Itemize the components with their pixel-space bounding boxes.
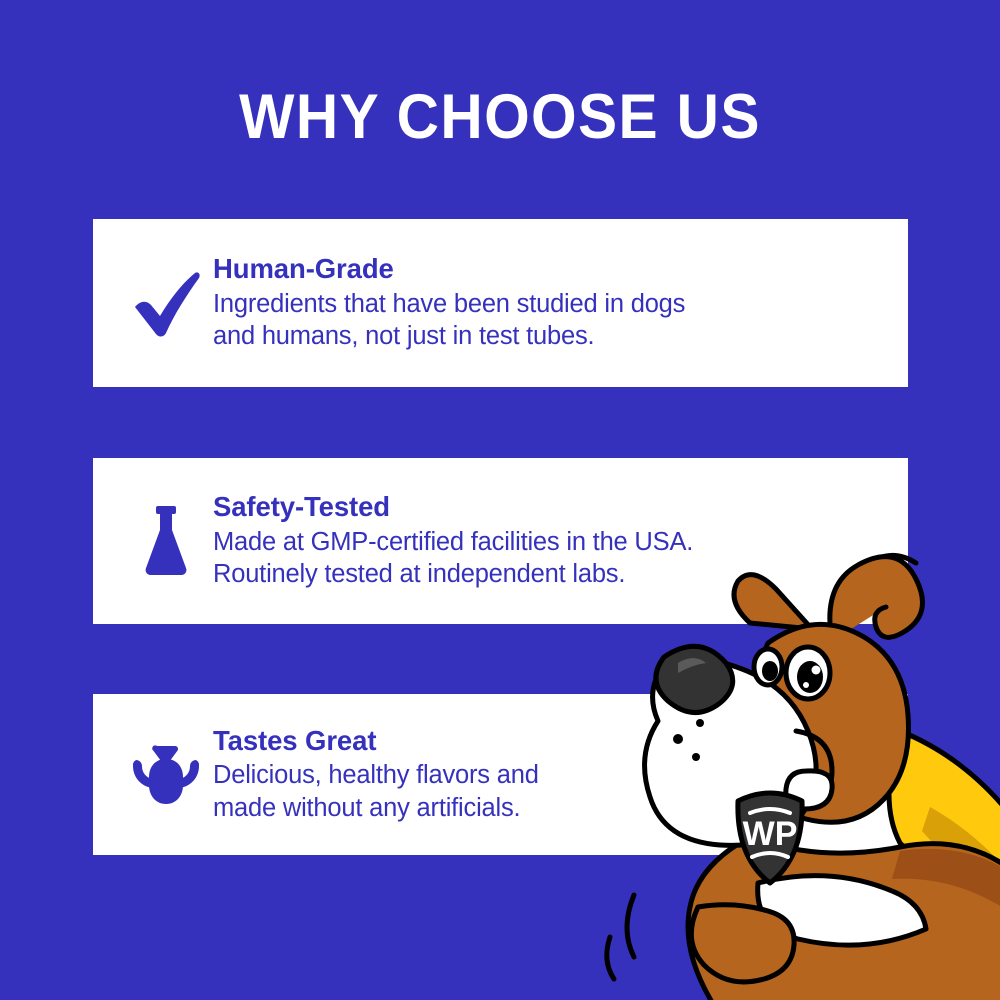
pupil-left xyxy=(797,661,823,693)
feature-card-safety-tested: Safety-Tested Made at GMP-certified faci… xyxy=(93,458,908,624)
card-description: Ingredients that have been studied in do… xyxy=(213,288,888,353)
cape-shadow xyxy=(922,807,1000,905)
eye-right xyxy=(754,649,782,685)
nose-highlight xyxy=(678,658,706,673)
feature-card-tastes-great: Tastes Great Delicious, healthy flavors … xyxy=(93,694,908,855)
promo-graphic: WHY CHOOSE US Human-Grade Ingredients th… xyxy=(0,0,1000,1000)
speed-line xyxy=(607,937,614,979)
page-title: WHY CHOOSE US xyxy=(35,86,965,149)
feature-card-human-grade: Human-Grade Ingredients that have been s… xyxy=(93,219,908,387)
speed-line xyxy=(627,895,634,957)
eye-glint xyxy=(812,666,821,675)
body-shadow xyxy=(892,849,1000,919)
card-text-block: Safety-Tested Made at GMP-certified faci… xyxy=(213,491,888,591)
eye-left xyxy=(786,647,830,699)
card-title: Human-Grade xyxy=(213,253,888,285)
card-description: Delicious, healthy flavors and made with… xyxy=(213,759,888,824)
card-title: Tastes Great xyxy=(213,725,888,757)
checkmark-icon xyxy=(123,260,209,346)
card-text-block: Tastes Great Delicious, healthy flavors … xyxy=(213,725,888,825)
chest-patch xyxy=(758,876,926,945)
pupil-right xyxy=(762,661,778,681)
card-text-block: Human-Grade Ingredients that have been s… xyxy=(213,253,888,353)
front-paw xyxy=(691,905,794,982)
card-description: Made at GMP-certified facilities in the … xyxy=(213,526,888,591)
flask-icon xyxy=(123,498,209,584)
card-title: Safety-Tested xyxy=(213,491,888,523)
dog-tongue-icon xyxy=(123,732,209,818)
eye-glint xyxy=(803,682,809,688)
body xyxy=(688,837,1000,1000)
